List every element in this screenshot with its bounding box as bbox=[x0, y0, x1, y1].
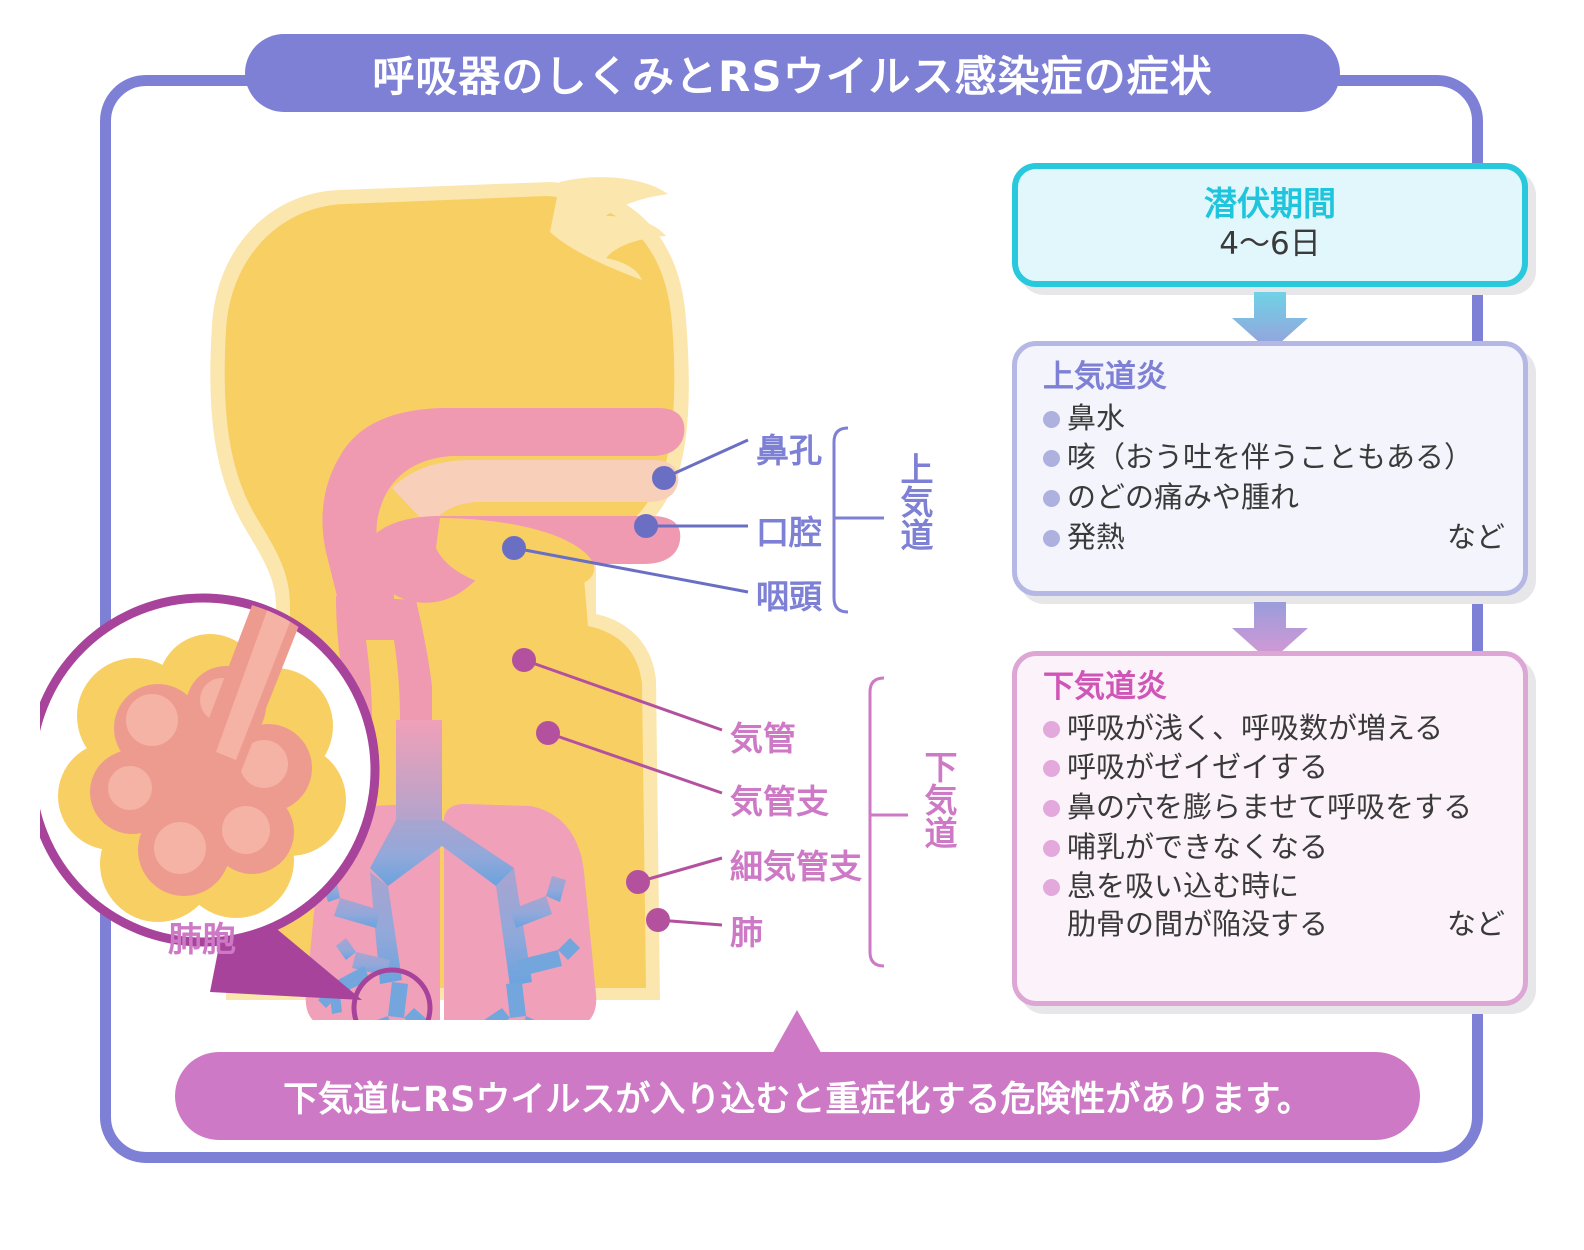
page-title-text: 呼吸器のしくみとRSウイルス感染症の症状 bbox=[372, 43, 1212, 104]
etc-text: など bbox=[1447, 906, 1505, 944]
symptom-line-2: 肋骨の間が陥没する bbox=[1067, 906, 1328, 944]
lower-symptom-list: 呼吸が浅く、呼吸数が増える 呼吸がゼイゼイする 鼻の穴を膨らませて呼吸をする 哺… bbox=[1017, 710, 1523, 944]
list-item: 呼吸が浅く、呼吸数が増える bbox=[1043, 710, 1505, 748]
incubation-title: 潜伏期間 bbox=[1204, 186, 1336, 222]
list-item: 哺乳ができなくなる bbox=[1043, 829, 1505, 867]
bullet-icon bbox=[1043, 450, 1060, 467]
label-upper-airway-group: 上気道 bbox=[898, 452, 931, 551]
label-alveoli: 肺胞 bbox=[168, 912, 236, 961]
label-bronchiole: 細気管支 bbox=[730, 840, 862, 888]
bullet-icon bbox=[1043, 721, 1060, 738]
symptom-text: 発熱 bbox=[1067, 519, 1433, 557]
incubation-box: 潜伏期間 4〜6日 bbox=[1012, 163, 1528, 287]
bullet-icon bbox=[1043, 490, 1060, 507]
bullet-icon bbox=[1043, 760, 1060, 777]
bullet-icon bbox=[1043, 411, 1060, 428]
symptom-line-1: 息を吸い込む時に bbox=[1067, 869, 1299, 903]
bullet-icon bbox=[1043, 530, 1060, 547]
label-nostril: 鼻孔 bbox=[756, 424, 822, 472]
list-item: 発熱 など bbox=[1043, 519, 1505, 557]
lower-respiratory-box: 下気道炎 呼吸が浅く、呼吸数が増える 呼吸がゼイゼイする 鼻の穴を膨らませて呼吸… bbox=[1012, 651, 1528, 1006]
etc-text: など bbox=[1433, 519, 1505, 557]
label-bronchus: 気管支 bbox=[730, 775, 829, 823]
symptom-text: 呼吸がゼイゼイする bbox=[1067, 749, 1505, 787]
warning-banner: 下気道にRSウイルスが入り込むと重症化する危険性があります。 bbox=[175, 1052, 1420, 1140]
list-item: 息を吸い込む時に 肋骨の間が陥没する など bbox=[1043, 868, 1505, 943]
symptom-text: 咳（おう吐を伴うこともある） bbox=[1067, 439, 1505, 477]
list-item: 鼻の穴を膨らませて呼吸をする bbox=[1043, 789, 1505, 827]
warning-banner-text: 下気道にRSウイルスが入り込むと重症化する危険性があります。 bbox=[283, 1071, 1312, 1122]
symptom-text: 鼻水 bbox=[1067, 400, 1505, 438]
upper-box-title: 上気道炎 bbox=[1043, 360, 1523, 396]
upper-symptom-list: 鼻水 咳（おう吐を伴うこともある） のどの痛みや腫れ 発熱 など bbox=[1017, 400, 1523, 557]
bullet-icon bbox=[1043, 879, 1060, 896]
alveoli-magnifier bbox=[40, 598, 375, 942]
upper-respiratory-box: 上気道炎 鼻水 咳（おう吐を伴うこともある） のどの痛みや腫れ 発熱 など bbox=[1012, 341, 1528, 596]
label-lower-airway-group: 下気道 bbox=[922, 750, 955, 849]
label-oral-cavity: 口腔 bbox=[756, 506, 822, 554]
list-item: のどの痛みや腫れ bbox=[1043, 479, 1505, 517]
bullet-icon bbox=[1043, 840, 1060, 857]
symptom-text-multiline: 息を吸い込む時に 肋骨の間が陥没する など bbox=[1067, 868, 1505, 943]
banner-pointer bbox=[766, 1010, 828, 1058]
label-pharynx: 咽頭 bbox=[756, 570, 822, 618]
label-trachea: 気管 bbox=[730, 712, 796, 760]
symptom-text: 鼻の穴を膨らませて呼吸をする bbox=[1067, 789, 1505, 827]
infographic-root: 呼吸器のしくみとRSウイルス感染症の症状 bbox=[0, 0, 1584, 1250]
page-title: 呼吸器のしくみとRSウイルス感染症の症状 bbox=[245, 34, 1340, 112]
list-item: 呼吸がゼイゼイする bbox=[1043, 749, 1505, 787]
incubation-value: 4〜6日 bbox=[1219, 225, 1320, 264]
list-item: 咳（おう吐を伴うこともある） bbox=[1043, 439, 1505, 477]
symptom-text: のどの痛みや腫れ bbox=[1067, 479, 1505, 517]
lower-box-title: 下気道炎 bbox=[1043, 670, 1523, 706]
bullet-icon bbox=[1043, 800, 1060, 817]
symptom-text: 呼吸が浅く、呼吸数が増える bbox=[1067, 710, 1505, 748]
symptom-text: 哺乳ができなくなる bbox=[1067, 829, 1505, 867]
label-lung: 肺 bbox=[730, 906, 763, 954]
list-item: 鼻水 bbox=[1043, 400, 1505, 438]
